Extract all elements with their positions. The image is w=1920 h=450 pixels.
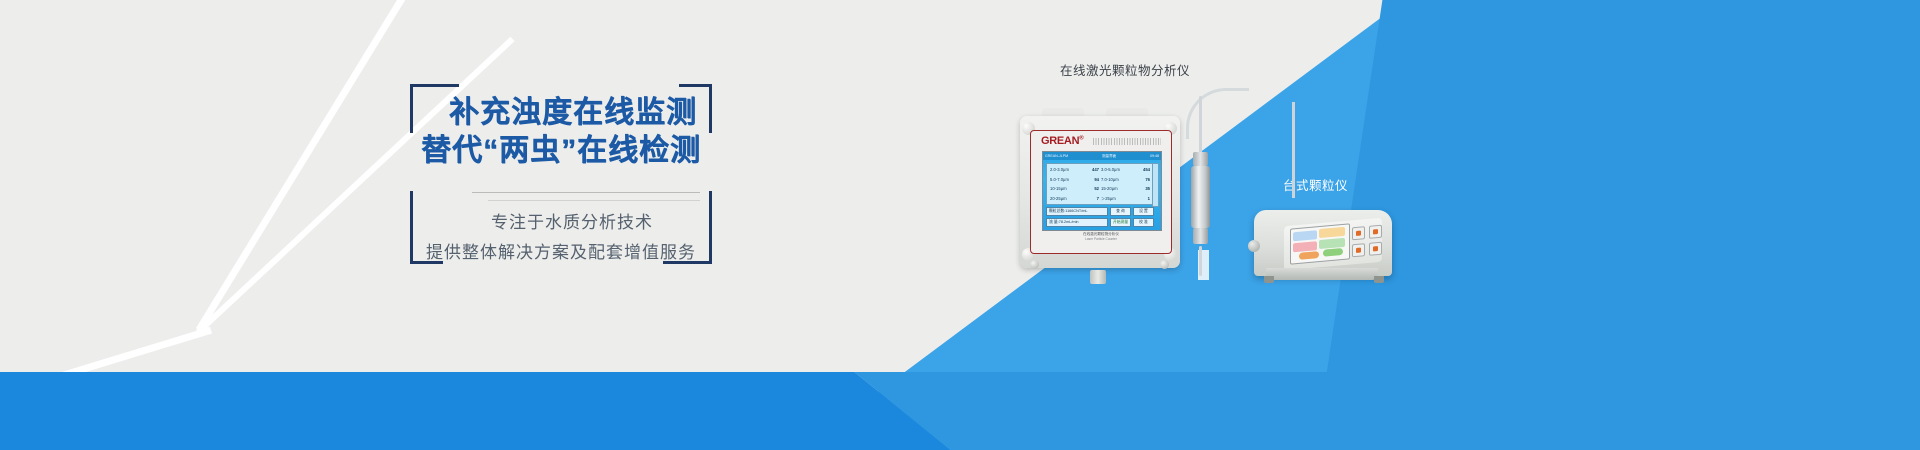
product-label-analyzer: 在线激光颗粒物分析仪	[1060, 60, 1190, 79]
lcd-button-start-measure[interactable]: 开始测量	[1110, 218, 1131, 227]
lcd-status-left: GREAN-JLPM	[1045, 152, 1068, 160]
lcd-particle-range: 10-15μm	[1050, 184, 1067, 194]
benchtop-particle-counter	[1248, 196, 1400, 292]
sensor-tube-top	[1199, 96, 1202, 158]
benchtop-display-tile-2	[1319, 227, 1345, 238]
lcd-particle-range: ＞25μm	[1101, 194, 1116, 204]
benchtop-display-pill-2	[1323, 248, 1343, 257]
lcd-particle-range: 5.0-7.0μm	[1050, 175, 1069, 185]
subtitle: 专注于水质分析技术 提供整体解决方案及配套增值服务	[410, 208, 712, 268]
headline-line-1: 补充浊度在线监测	[410, 94, 712, 132]
benchtop-keypad[interactable]	[1352, 225, 1382, 258]
lcd-particle-row: 10-15μm52	[1049, 184, 1100, 194]
lcd-particle-range: 20-25μm	[1050, 194, 1067, 204]
benchtop-display-pill-1	[1299, 251, 1319, 260]
headline-line-2: 替代“两虫”在线检测	[410, 132, 712, 170]
lcd-particle-row: 3.0-5.0μm454	[1100, 165, 1151, 175]
inline-sensor-assembly	[1188, 96, 1214, 266]
analyzer-panel-hatching	[1093, 138, 1161, 145]
headline-divider-lower	[488, 200, 700, 201]
lcd-particle-value: 447	[1092, 165, 1099, 175]
sensor-tube-bottom	[1199, 246, 1202, 276]
benchtop-side-knob[interactable]	[1248, 240, 1260, 252]
lcd-particle-value: 1	[1148, 194, 1150, 204]
lcd-particle-range: 7.0-10μm	[1101, 175, 1119, 185]
analyzer-screw-left	[1030, 260, 1039, 269]
lcd-particle-row: 20-25μm7	[1049, 194, 1100, 204]
benchtop-key-3[interactable]	[1352, 243, 1365, 257]
analyzer-front-panel: GREAN® GREAN-JLPM 测量界面 09:48 2.0-3.0μm44…	[1030, 130, 1172, 254]
subtitle-line-2: 提供整体解决方案及配套增值服务	[410, 238, 712, 268]
benchtop-display[interactable]	[1290, 223, 1350, 264]
lcd-particle-value: 7	[1097, 194, 1099, 204]
lcd-button-settings[interactable]: 设 置	[1133, 207, 1154, 216]
sensor-body	[1191, 166, 1210, 228]
lcd-status-bar: GREAN-JLPM 测量界面 09:48	[1043, 152, 1161, 160]
benchtop-key-2[interactable]	[1369, 225, 1382, 239]
sensor-foot	[1193, 228, 1208, 244]
lcd-particle-value: 52	[1094, 184, 1099, 194]
lcd-particle-row: 15-20μm35	[1100, 184, 1151, 194]
subtitle-line-1: 专注于水质分析技术	[410, 208, 712, 238]
benchtop-stand-rod	[1292, 102, 1295, 198]
lcd-button-query[interactable]: 查 询	[1110, 207, 1131, 216]
benchtop-key-1[interactable]	[1352, 226, 1365, 240]
lcd-particle-table: 2.0-3.0μm4473.0-5.0μm4545.0-7.0μm947.0-1…	[1046, 163, 1154, 205]
analyzer-cable-gland	[1090, 270, 1106, 284]
lcd-field-flow-rate: 流 量:78.2mL/min	[1046, 218, 1108, 227]
sensor-head	[1193, 152, 1208, 166]
lcd-particle-value: 76	[1145, 175, 1150, 185]
lcd-particle-row: 7.0-10μm76	[1100, 175, 1151, 185]
analyzer-screw-right	[1160, 260, 1169, 269]
analyzer-panel-footer: 在线激光颗粒物分析仪 Laser Particle Counter	[1042, 232, 1160, 241]
lcd-particle-value: 35	[1145, 184, 1150, 194]
headline-text-block: 补充浊度在线监测 替代“两虫”在线检测 专注于水质分析技术 提供整体解决方案及配…	[410, 84, 712, 264]
lcd-particle-row: 2.0-3.0μm447	[1049, 165, 1100, 175]
lcd-button-calibrate[interactable]: 校 准	[1133, 218, 1154, 227]
lcd-row-total: 颗粒总数:1166CNT/mL 查 询 设 置	[1046, 207, 1154, 216]
analyzer-lcd-screen[interactable]: GREAN-JLPM 测量界面 09:48 2.0-3.0μm4473.0-5.…	[1042, 151, 1162, 231]
lcd-field-total-count: 颗粒总数:1166CNT/mL	[1046, 207, 1108, 216]
headline: 补充浊度在线监测 替代“两虫”在线检测	[410, 94, 712, 170]
lcd-scrollbar[interactable]	[1152, 163, 1159, 207]
lcd-particle-range: 2.0-3.0μm	[1050, 165, 1069, 175]
headline-divider-upper	[472, 192, 700, 193]
lcd-particle-range: 3.0-5.0μm	[1101, 165, 1120, 175]
benchtop-display-tile-4	[1319, 238, 1345, 249]
benchtop-front-tray	[1266, 268, 1378, 280]
promo-banner: 补充浊度在线监测 替代“两虫”在线检测 专注于水质分析技术 提供整体解决方案及配…	[0, 0, 1920, 450]
lcd-status-center: 测量界面	[1102, 152, 1116, 160]
benchtop-foot-right	[1374, 276, 1384, 283]
analyzer-brand-mark: ®	[1079, 135, 1083, 141]
analyzer-brand-text: GREAN	[1041, 135, 1079, 147]
lcd-row-flow: 流 量:78.2mL/min 开始测量 校 准	[1046, 218, 1154, 227]
benchtop-key-4[interactable]	[1369, 242, 1382, 256]
lcd-particle-value: 94	[1094, 175, 1099, 185]
benchtop-foot-left	[1264, 276, 1274, 283]
lcd-particle-row: 5.0-7.0μm94	[1049, 175, 1100, 185]
benchtop-display-tile-1	[1293, 230, 1317, 241]
lcd-particle-row: ＞25μm1	[1100, 194, 1151, 204]
analyzer-brand-logo: GREAN®	[1041, 135, 1083, 147]
lcd-particle-range: 15-20μm	[1101, 184, 1118, 194]
lcd-status-right: 09:48	[1150, 152, 1159, 160]
lcd-particle-value: 454	[1143, 165, 1150, 175]
online-laser-particle-analyzer: GREAN® GREAN-JLPM 测量界面 09:48 2.0-3.0μm44…	[1012, 104, 1187, 279]
analyzer-footer-en: Laser Particle Counter	[1042, 237, 1160, 241]
